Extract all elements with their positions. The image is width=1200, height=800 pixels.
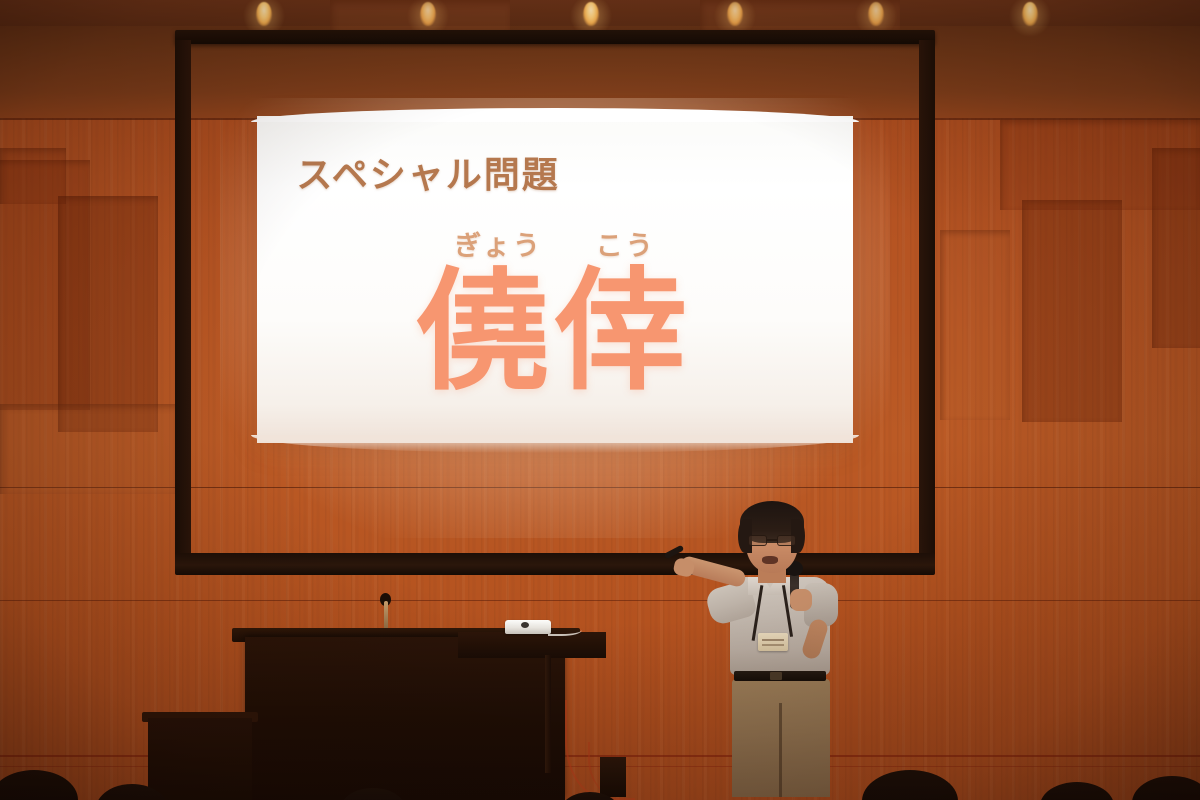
slide-title: スペシャル問題	[296, 146, 817, 198]
podium	[245, 637, 565, 800]
name-badge	[758, 633, 788, 651]
side-table	[458, 632, 606, 658]
wall-panel	[700, 0, 900, 30]
wall-panel	[330, 0, 510, 34]
wall-panel	[940, 230, 1010, 420]
wall-panel	[1000, 120, 1200, 210]
wall-panel	[58, 196, 158, 432]
screen-surface: スペシャル問題 ぎょう こう 僥倖	[191, 42, 919, 553]
belt-buckle	[770, 672, 782, 680]
side-table-leg	[545, 655, 551, 773]
screen-left-edge	[175, 40, 191, 564]
wall-seam	[0, 600, 1200, 601]
presenter-right-hand	[790, 589, 812, 611]
presenter-mouth	[762, 556, 778, 564]
cable-box	[600, 757, 626, 797]
podium-microphone-stand	[384, 601, 388, 631]
wall-panel	[0, 404, 176, 494]
podium-step	[148, 718, 252, 800]
ceiling-light-icon	[256, 2, 272, 26]
presenter-leg-seam	[779, 703, 782, 797]
screen-right-edge	[919, 40, 935, 564]
projected-slide: スペシャル問題 ぎょう こう 僥倖	[257, 116, 854, 443]
presenter	[686, 493, 901, 800]
wall-panel	[1022, 200, 1122, 422]
auditorium-photo: スペシャル問題 ぎょう こう 僥倖	[0, 0, 1200, 800]
ceiling-light-icon	[1022, 2, 1038, 26]
laptop	[505, 620, 551, 634]
glasses-icon	[748, 535, 796, 546]
slide-kanji: 僥倖	[292, 265, 817, 400]
ceiling-light-icon	[583, 2, 599, 26]
wall-panel	[0, 148, 66, 204]
